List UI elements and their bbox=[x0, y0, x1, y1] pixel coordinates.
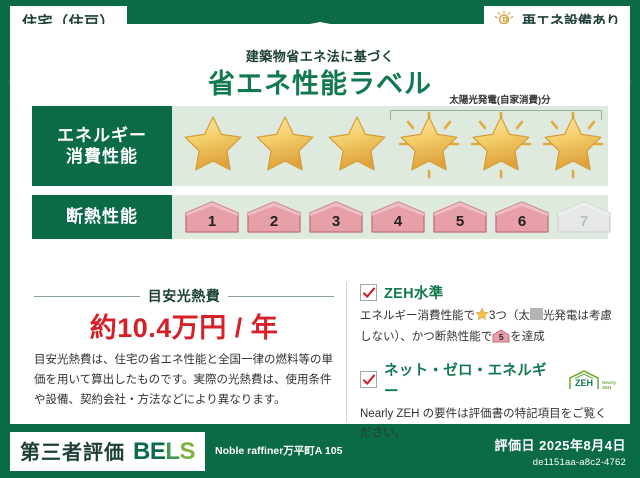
star-icon bbox=[538, 111, 608, 181]
insulation-chip-value: 4 bbox=[370, 208, 426, 234]
bels-letters-be: BE bbox=[133, 438, 165, 465]
cost-rule-right bbox=[228, 296, 334, 297]
inline-chip-value: 5 bbox=[492, 332, 510, 343]
insulation-level-chip: 1 bbox=[184, 200, 240, 234]
energy-stars-area: 太陽光発電(自家消費)分 bbox=[172, 106, 608, 186]
star-icon bbox=[466, 111, 536, 181]
inline-level-chip: 5 bbox=[492, 329, 510, 343]
insulation-chip-value: 6 bbox=[494, 208, 550, 234]
insulation-level-chip: 4 bbox=[370, 200, 426, 234]
insulation-chip-value: 7 bbox=[556, 208, 612, 234]
redaction-block bbox=[530, 308, 543, 320]
energy-performance-label: 住宅（住戸） 再エネ設備あり 建築物省エネ法に基づく 省エネ性能ラベル bbox=[0, 0, 640, 478]
energy-performance-row: エネルギー 消費性能 太陽光発電(自家消費)分 bbox=[32, 106, 608, 186]
energy-performance-label-box: エネルギー 消費性能 bbox=[32, 106, 172, 186]
bels-letter-l: L bbox=[165, 438, 179, 465]
insulation-label: 断熱性能 bbox=[66, 206, 138, 227]
checkmark-icon bbox=[360, 284, 377, 301]
zeh-standard-title: ZEH水準 bbox=[384, 282, 444, 303]
zeh-logo: ZEH Nearly ZEH bbox=[567, 369, 616, 391]
insulation-level-chip: 6 bbox=[494, 200, 550, 234]
cost-heading-label: 目安光熱費 bbox=[148, 286, 221, 306]
property-name: Noble raffiner万平町A 105 bbox=[215, 444, 342, 458]
vertical-divider bbox=[346, 282, 347, 422]
star-icon bbox=[322, 111, 392, 181]
cost-value: 約10.4万円 / 年 bbox=[34, 306, 334, 345]
evaluation-date: 評価日 2025年8月4日 bbox=[495, 435, 627, 454]
bels-wordmark: BELS bbox=[133, 438, 195, 466]
svg-text:ZEH: ZEH bbox=[575, 378, 593, 388]
checkmark-icon bbox=[360, 371, 377, 388]
evaluation-id: de1151aa-a8c2-4762 bbox=[495, 457, 627, 468]
footer-bar: 第三者評価 BELS Noble raffiner万平町A 105 評価日 20… bbox=[0, 424, 640, 478]
insulation-chip-value: 5 bbox=[432, 208, 488, 234]
star-icon bbox=[178, 111, 248, 181]
bels-letter-s: S bbox=[180, 438, 196, 465]
zeh-body-text-1: エネルギー消費性能で bbox=[360, 310, 475, 322]
zeh-standard-body: エネルギー消費性能で3つ（太光発電は考慮しない）、かつ断熱性能で5を達成 bbox=[360, 307, 616, 347]
cost-note: 目安光熱費は、住宅の省エネ性能と全国一律の燃料等の単価を用いて算出したものです。… bbox=[34, 350, 338, 410]
energy-label-line1: エネルギー bbox=[57, 125, 147, 146]
insulation-level-chip: 7 bbox=[556, 200, 612, 234]
star-icon bbox=[394, 111, 464, 181]
footer-right-info: 評価日 2025年8月4日 de1151aa-a8c2-4762 bbox=[495, 435, 627, 468]
star-icon bbox=[250, 111, 320, 181]
zeh-standard-heading: ZEH水準 bbox=[360, 282, 616, 303]
cost-heading: 目安光熱費 bbox=[34, 286, 334, 306]
insulation-performance-label-box: 断熱性能 bbox=[32, 195, 172, 239]
zeh-logo-sub2: ZEH bbox=[602, 386, 616, 391]
performance-section: エネルギー 消費性能 太陽光発電(自家消費)分 bbox=[32, 106, 608, 248]
insulation-performance-row: 断熱性能 1 2 3 4 bbox=[32, 195, 608, 239]
insulation-chip-value: 2 bbox=[246, 208, 302, 234]
label-card: 建築物省エネ法に基づく 省エネ性能ラベル エネルギー 消費性能 太陽光発電(自家… bbox=[10, 24, 630, 424]
insulation-level-chip: 5 bbox=[432, 200, 488, 234]
bels-logo-box: 第三者評価 BELS bbox=[10, 432, 205, 471]
insulation-level-chips: 1 2 3 4 5 6 bbox=[172, 195, 612, 239]
zeh-netzero-title: ネット・ゼロ・エネルギー bbox=[384, 359, 558, 401]
inline-star-icon bbox=[475, 307, 489, 328]
cost-rule-left bbox=[34, 296, 140, 297]
insulation-chip-value: 3 bbox=[308, 208, 364, 234]
solar-annotation: 太陽光発電(自家消費)分 bbox=[400, 92, 600, 106]
insulation-level-chip: 3 bbox=[308, 200, 364, 234]
insulation-levels-area: 1 2 3 4 5 6 bbox=[172, 195, 612, 239]
star-rating bbox=[172, 106, 608, 186]
insulation-chip-value: 1 bbox=[184, 208, 240, 234]
zeh-standard-block: ZEH水準 エネルギー消費性能で3つ（太光発電は考慮しない）、かつ断熱性能で5を… bbox=[360, 282, 616, 347]
zeh-netzero-heading: ネット・ゼロ・エネルギー ZEH Nearly ZEH bbox=[360, 359, 616, 401]
insulation-level-chip: 2 bbox=[246, 200, 302, 234]
third-party-eval-label: 第三者評価 bbox=[20, 436, 125, 465]
zeh-body-text-4: を達成 bbox=[510, 331, 545, 343]
energy-label-line2: 消費性能 bbox=[66, 146, 138, 167]
zeh-body-text-2: 3つ（太 bbox=[489, 310, 530, 322]
